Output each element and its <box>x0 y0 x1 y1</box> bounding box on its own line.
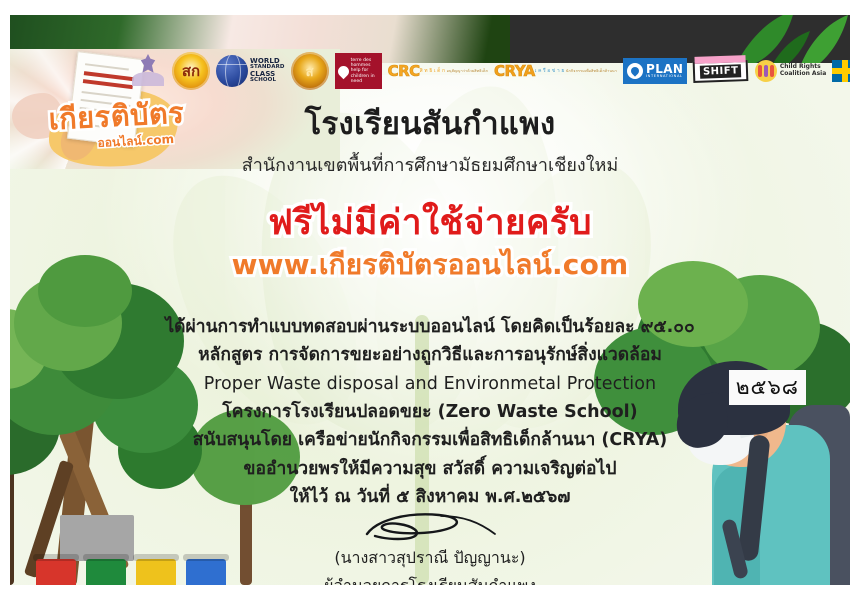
signature-block: (นางสาวสุปราณี ปัญญานะ) ผู้อำนวยการโรงเร… <box>10 510 850 585</box>
certificate-body: ได้ผ่านการทำแบบทดสอบผ่านระบบออนไลน์ โดยค… <box>10 313 850 511</box>
body-line: สนับสนุนโดย เครือข่ายนักกิจกรรมเพื่อสิทธ… <box>10 426 850 454</box>
body-line: ได้ผ่านการทำแบบทดสอบผ่านระบบออนไลน์ โดยค… <box>10 313 850 341</box>
watermark-free-notice: ฟรีไม่มีค่าใช้จ่ายครับ <box>10 195 850 250</box>
signatory-title: ผู้อำนวยการโรงเรียนสันกำแพง <box>10 574 850 585</box>
signature-icon <box>355 510 505 544</box>
certificate-content: โรงเรียนสันกำแพง สำนักงานเขตพื้นที่การศึ… <box>10 15 850 585</box>
body-line: โครงการโรงเรียนปลอดขยะ (Zero Waste Schoo… <box>10 398 850 426</box>
body-line-date: ให้ไว้ ณ วันที่ ๕ สิงหาคม พ.ศ.๒๕๖๗ <box>10 483 850 511</box>
page-title: โรงเรียนสันกำแพง <box>10 107 850 141</box>
certificate-canvas: สก WORLD STANDARD CLASS SCHOOL ส terre d… <box>10 15 850 585</box>
body-line: ขออำนวยพรให้มีความสุข สวัสดิ์ ความเจริญต… <box>10 455 850 483</box>
body-line: หลักสูตร การจัดการขยะอย่างถูกวิธีและการอ… <box>10 341 850 369</box>
body-line-english: Proper Waste disposal and Environmetal P… <box>10 370 850 398</box>
watermark-website: www.เกียรติบัตรออนไลน์.com <box>10 243 850 287</box>
office-subtitle: สำนักงานเขตพื้นที่การศึกษามัธยมศึกษาเชีย… <box>10 155 850 177</box>
signatory-name: (นางสาวสุปราณี ปัญญานะ) <box>10 546 850 571</box>
